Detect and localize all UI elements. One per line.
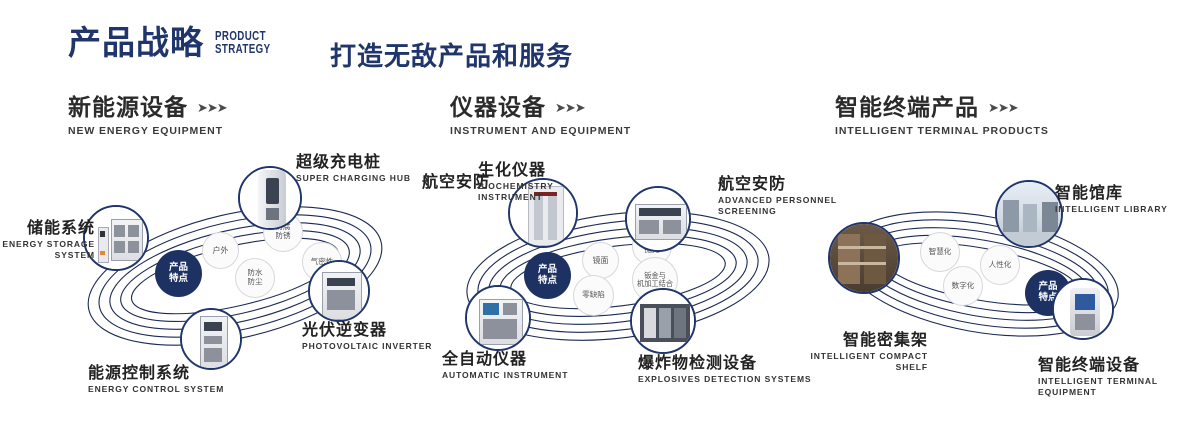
control-cabinet-photo bbox=[182, 310, 240, 368]
label-en-line2: INSTRUMENT bbox=[478, 192, 554, 203]
poster-canvas: 产品战略 PRODUCT STRATEGY 打造无敌产品和服务 新能源设备 ➤➤… bbox=[0, 0, 1200, 422]
core-bubble-product-features: 产品 特点 bbox=[155, 250, 202, 297]
section-title-en: INSTRUMENT AND EQUIPMENT bbox=[450, 125, 631, 137]
keyword-line1: 镜面 bbox=[593, 256, 609, 265]
section-title-cn: 新能源设备 bbox=[68, 96, 188, 120]
label-en-line1: ENERGY CONTROL SYSTEM bbox=[88, 384, 224, 395]
keyword-line1: 零缺陷 bbox=[582, 291, 605, 300]
label-terminal-equipment: 智能终端设备 INTELLIGENT TERMINAL EQUIPMENT bbox=[1038, 355, 1200, 397]
page-title-en-line2: STRATEGY bbox=[215, 43, 270, 56]
keyword-bubble-humanized: 人性化 bbox=[980, 245, 1020, 285]
label-en-line1: BIOCHEMISTRY bbox=[478, 181, 554, 192]
label-cn: 光伏逆变器 bbox=[302, 320, 432, 339]
label-biochemistry: 生化仪器 BIOCHEMISTRY INSTRUMENT bbox=[478, 160, 554, 202]
keyword-line2: 机加工结合 bbox=[637, 280, 673, 288]
section-title-intelligent-terminal: 智能终端产品 ➤➤➤ INTELLIGENT TERMINAL PRODUCTS bbox=[835, 96, 1049, 137]
keyword-bubble-digital: 数字化 bbox=[943, 266, 983, 306]
node-photo-pv-inverter[interactable] bbox=[308, 260, 370, 322]
label-cn: 智能终端设备 bbox=[1038, 355, 1200, 374]
page-subtitle: 打造无敌产品和服务 bbox=[330, 36, 573, 73]
inverter-photo bbox=[310, 262, 368, 320]
core-bubble-line1: 产品 bbox=[538, 265, 557, 276]
terminal-kiosk-photo bbox=[1054, 280, 1112, 338]
node-photo-biochemistry[interactable] bbox=[625, 186, 691, 252]
label-automatic-instrument: 全自动仪器 AUTOMATIC INSTRUMENT bbox=[442, 349, 568, 381]
label-en-line1: INTELLIGENT LIBRARY bbox=[1055, 204, 1168, 215]
label-cn: 全自动仪器 bbox=[442, 349, 568, 368]
chevron-right-icon: ➤➤➤ bbox=[555, 96, 585, 120]
label-en-line1: INTELLIGENT TERMINAL EQUIPMENT bbox=[1038, 376, 1200, 397]
node-photo-automatic-instrument[interactable] bbox=[465, 285, 531, 351]
label-en-line2: SHELF bbox=[790, 362, 928, 373]
label-compact-shelf: 智能密集架 INTELLIGENT COMPACT SHELF bbox=[790, 330, 928, 372]
label-cn: 智能馆库 bbox=[1055, 183, 1168, 202]
node-photo-explosives-detector[interactable] bbox=[630, 288, 696, 354]
node-photo-library[interactable] bbox=[995, 180, 1063, 248]
charging-pile-photo bbox=[240, 168, 300, 228]
node-photo-charging-hub[interactable] bbox=[238, 166, 302, 230]
keyword-bubble-mirror: 镜面 bbox=[582, 242, 619, 279]
label-cn: 超级充电桩 bbox=[296, 152, 411, 171]
label-en-line1: INTELLIGENT COMPACT bbox=[790, 351, 928, 362]
section-title-en: INTELLIGENT TERMINAL PRODUCTS bbox=[835, 125, 1049, 137]
core-bubble-line2: 特点 bbox=[169, 274, 188, 285]
label-energy-control: 能源控制系统 ENERGY CONTROL SYSTEM bbox=[88, 363, 224, 395]
label-explosives-detection: 爆炸物检测设备 EXPLOSIVES DETECTION SYSTEMS bbox=[638, 353, 812, 385]
keyword-line1: 户外 bbox=[213, 246, 229, 255]
page-title-en-line1: PRODUCT bbox=[215, 30, 270, 43]
compact-shelf-photo bbox=[830, 224, 898, 292]
keyword-line1: 智慧化 bbox=[929, 248, 952, 257]
label-aviation-security-left: 航空安防 bbox=[392, 172, 490, 191]
cluster-new-energy: 产品 特点 户外 防腐 防锈 气密性 防水 防尘 bbox=[45, 160, 425, 390]
label-cn: 智能密集架 bbox=[790, 330, 928, 349]
label-library: 智能馆库 INTELLIGENT LIBRARY bbox=[1055, 183, 1168, 215]
node-photo-compact-shelf[interactable] bbox=[828, 222, 900, 294]
explosives-detector-photo bbox=[632, 290, 694, 352]
page-title-en: PRODUCT STRATEGY bbox=[215, 30, 270, 55]
label-cn: 能源控制系统 bbox=[88, 363, 224, 382]
keyword-bubble-outdoor: 户外 bbox=[202, 232, 239, 269]
section-title-cn: 智能终端产品 bbox=[835, 96, 979, 120]
label-cn: 生化仪器 bbox=[478, 160, 554, 179]
label-en-line1: PHOTOVOLTAIC INVERTER bbox=[302, 341, 432, 352]
chevron-right-icon: ➤➤➤ bbox=[197, 96, 227, 120]
biochemistry-analyzer-photo bbox=[627, 188, 689, 250]
label-cn: 航空安防 bbox=[392, 172, 490, 191]
label-energy-storage: 储能系统 ENERGY STORAGE SYSTEM bbox=[0, 218, 95, 260]
node-photo-energy-control[interactable] bbox=[180, 308, 242, 370]
label-en-line1: AUTOMATIC INSTRUMENT bbox=[442, 370, 568, 381]
keyword-bubble-intelligent: 智慧化 bbox=[920, 232, 960, 272]
keyword-line2: 防锈 bbox=[275, 232, 290, 241]
page-title: 产品战略 bbox=[68, 26, 204, 59]
node-photo-terminal-kiosk[interactable] bbox=[1052, 278, 1114, 340]
keyword-line1: 数字化 bbox=[952, 282, 975, 291]
label-en-line1: ENERGY STORAGE bbox=[0, 239, 95, 250]
label-en-line1: EXPLOSIVES DETECTION SYSTEMS bbox=[638, 374, 812, 385]
label-cn: 储能系统 bbox=[0, 218, 95, 237]
library-room-photo bbox=[997, 182, 1061, 246]
chevron-right-icon: ➤➤➤ bbox=[988, 96, 1018, 120]
label-en-line2: SYSTEM bbox=[0, 250, 95, 261]
keyword-line2: 防尘 bbox=[247, 278, 262, 287]
poster-header: 产品战略 PRODUCT STRATEGY bbox=[68, 26, 286, 59]
section-title-en: NEW ENERGY EQUIPMENT bbox=[68, 125, 227, 137]
core-bubble-product-features: 产品 特点 bbox=[524, 252, 571, 299]
keyword-line1: 人性化 bbox=[989, 261, 1012, 270]
section-title-cn: 仪器设备 bbox=[450, 96, 546, 120]
label-cn: 爆炸物检测设备 bbox=[638, 353, 812, 372]
automatic-instrument-photo bbox=[467, 287, 529, 349]
label-pv-inverter: 光伏逆变器 PHOTOVOLTAIC INVERTER bbox=[302, 320, 432, 352]
core-bubble-line2: 特点 bbox=[538, 276, 557, 287]
keyword-bubble-zerodefect: 零缺陷 bbox=[573, 275, 614, 316]
section-title-new-energy: 新能源设备 ➤➤➤ NEW ENERGY EQUIPMENT bbox=[68, 96, 227, 137]
section-title-instrument: 仪器设备 ➤➤➤ INSTRUMENT AND EQUIPMENT bbox=[450, 96, 631, 137]
keyword-bubble-waterproof: 防水 防尘 bbox=[235, 258, 275, 298]
core-bubble-line1: 产品 bbox=[169, 263, 188, 274]
